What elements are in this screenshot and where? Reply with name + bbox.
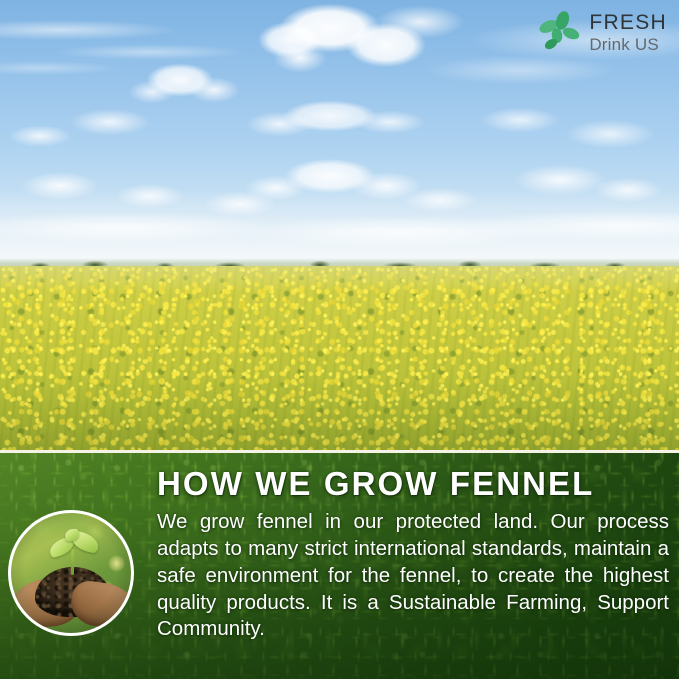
panel-paragraph: We grow fennel in our protected land. Ou… — [157, 509, 669, 670]
leaf-cluster-icon — [538, 11, 582, 53]
seedling-in-hands-photo — [8, 510, 134, 636]
brand-logo: FRESH Drink US — [534, 8, 671, 56]
yellow-flower-field — [0, 266, 679, 450]
circle-vignette — [11, 513, 131, 633]
info-panel: HOW WE GROW FENNEL We grow fennel in our… — [0, 453, 679, 679]
field-depth-shading — [0, 266, 679, 450]
brand-wordmark: FRESH Drink US — [589, 12, 667, 53]
product-info-poster: FRESH Drink US HOW WE GROW FENNEL We gro… — [0, 0, 679, 679]
hero-field-photo — [0, 0, 679, 450]
brand-name-secondary: Drink US — [589, 36, 667, 53]
panel-heading: HOW WE GROW FENNEL — [157, 467, 669, 502]
panel-text-block: HOW WE GROW FENNEL We grow fennel in our… — [157, 467, 669, 670]
brand-name-primary: FRESH — [589, 12, 667, 33]
